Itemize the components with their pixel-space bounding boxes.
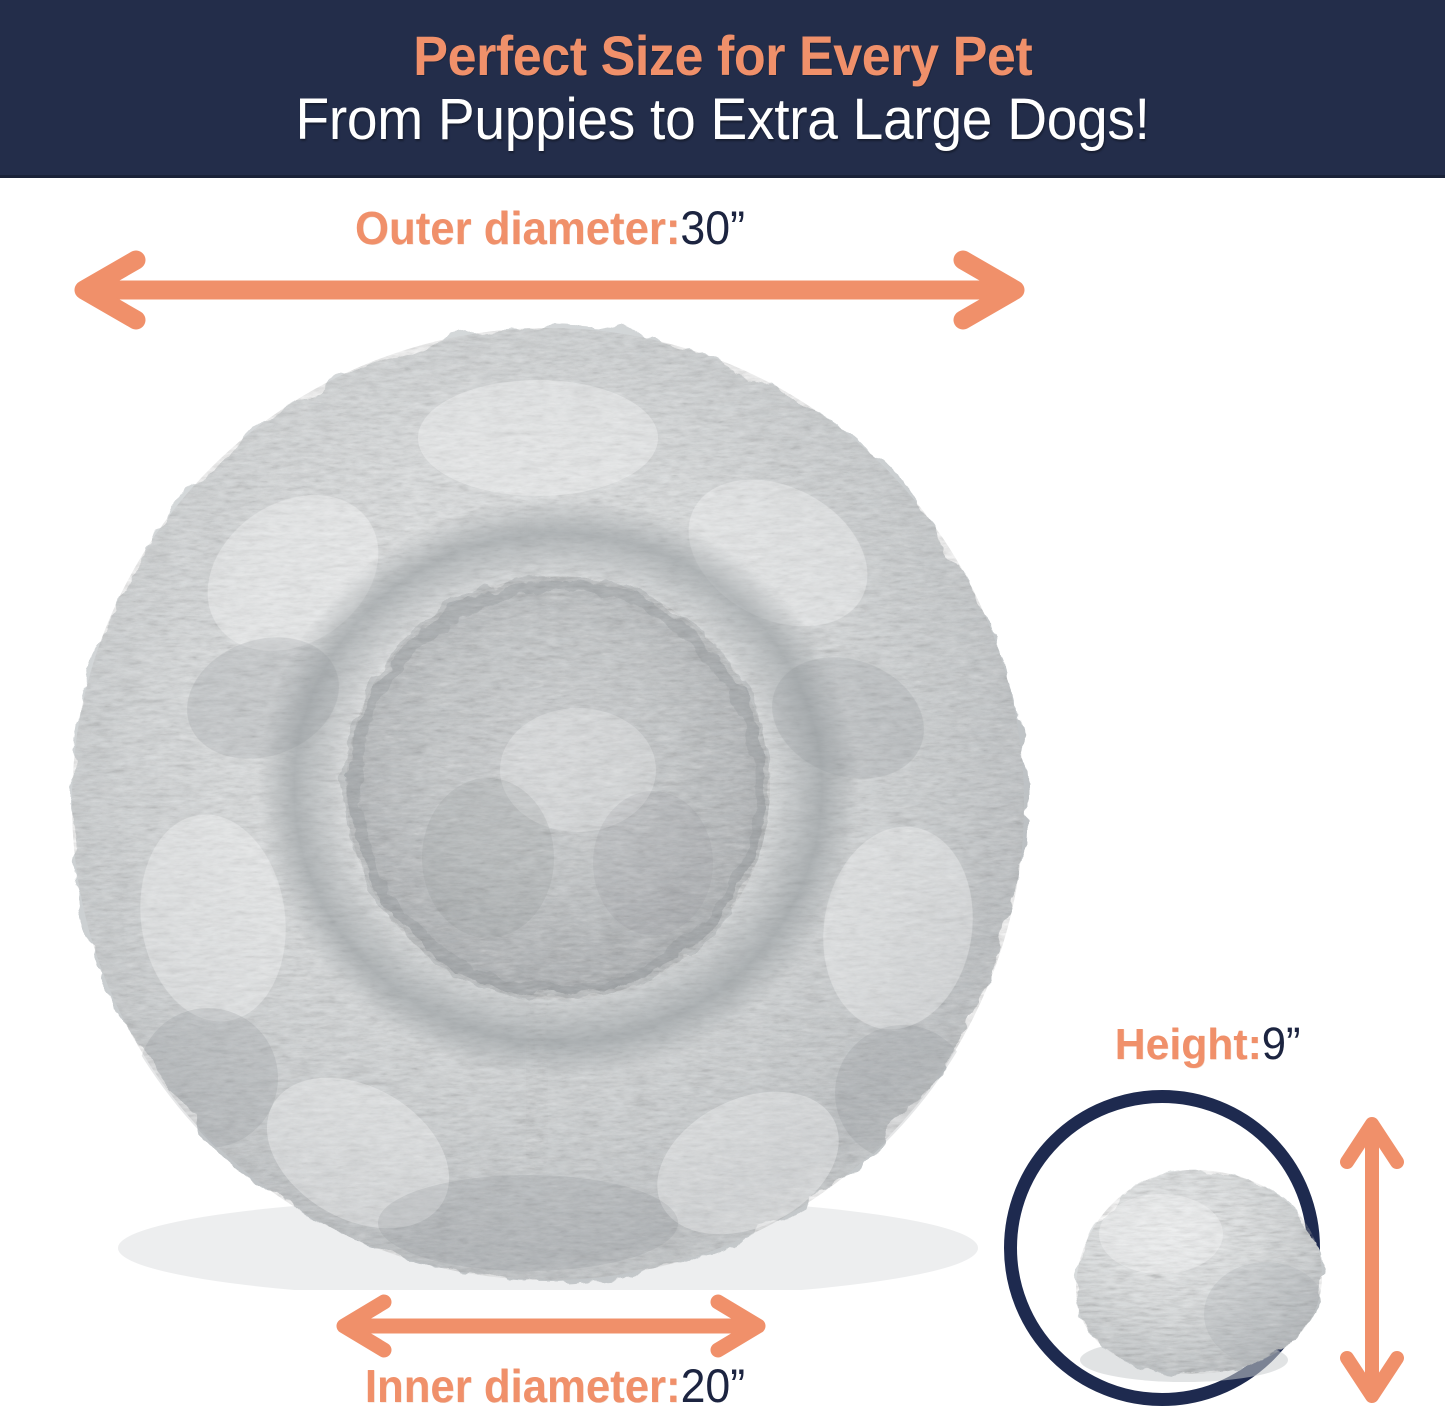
outer-diameter-value: 30”	[680, 201, 745, 254]
outer-diameter-arrow-icon	[62, 252, 1037, 328]
height-arrow-icon	[1336, 1110, 1408, 1410]
inner-diameter-value: 20”	[681, 1359, 746, 1412]
outer-diameter-label: Outer diameter:30”	[28, 204, 1073, 251]
inner-diameter-label: Inner diameter:20”	[208, 1362, 902, 1409]
height-value: 9”	[1262, 1018, 1301, 1069]
height-inset-group	[1004, 1090, 1332, 1421]
infographic-page: Perfect Size for Every Pet From Puppies …	[0, 0, 1445, 1421]
height-label-text: Height:	[1115, 1020, 1262, 1069]
inner-diameter-arrow-icon	[328, 1298, 774, 1354]
page-subtitle: From Puppies to Extra Large Dogs!	[286, 90, 1159, 151]
outer-diameter-label-text: Outer diameter:	[355, 202, 680, 254]
bed-top-view-image	[58, 318, 1038, 1290]
header-banner: Perfect Size for Every Pet From Puppies …	[0, 0, 1445, 178]
bed-side-view-image	[1066, 1164, 1338, 1382]
height-label: Height:9”	[1115, 1021, 1425, 1067]
page-title: Perfect Size for Every Pet	[404, 27, 1042, 84]
inner-diameter-label-text: Inner diameter:	[365, 1360, 681, 1412]
